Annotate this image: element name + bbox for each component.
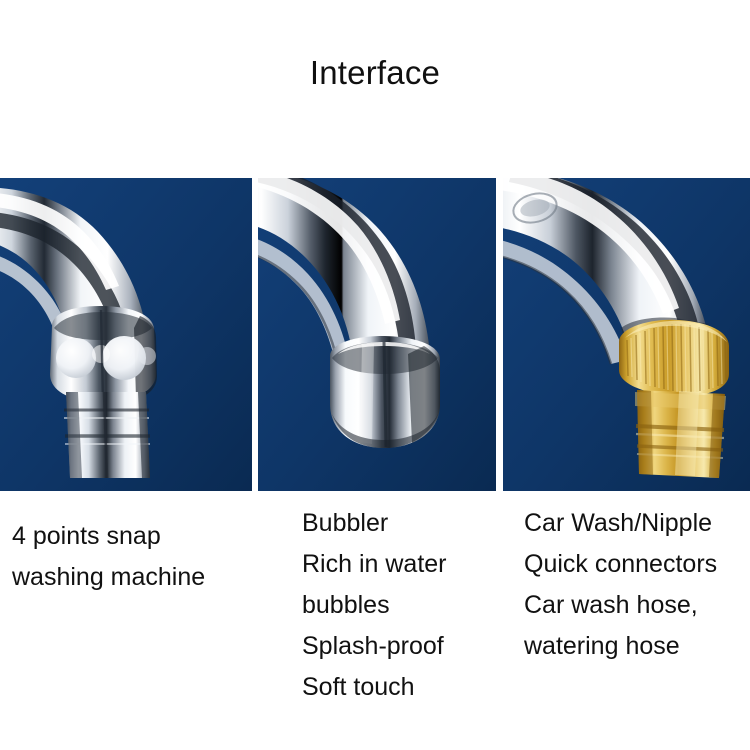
faucet-bubbler-aerator-icon (258, 178, 496, 491)
product-panel-carwash (503, 178, 750, 491)
caption-strip: 4 points snap washing machine Bubbler Ri… (0, 491, 750, 750)
faucet-4-point-snap-connector-icon (0, 178, 252, 491)
title-bar: Interface (0, 0, 750, 178)
caption-line: Rich in water (302, 544, 447, 585)
page-title: Interface (310, 53, 440, 93)
product-panel-bubbler (258, 178, 496, 491)
product-panel-snap (0, 178, 252, 491)
caption-line: Soft touch (302, 667, 447, 708)
caption-bubbler: Bubbler Rich in water bubbles Splash-pro… (302, 491, 447, 708)
caption-line: watering hose (524, 626, 717, 667)
caption-line: Car wash hose, (524, 585, 717, 626)
product-infographic: Interface (0, 0, 750, 750)
caption-carwash: Car Wash/Nipple Quick connectors Car was… (524, 491, 717, 667)
caption-line: Quick connectors (524, 544, 717, 585)
caption-line: washing machine (12, 557, 205, 598)
caption-line: 4 points snap (12, 516, 205, 557)
product-image-panels (0, 178, 750, 491)
caption-line: Car Wash/Nipple (524, 503, 717, 544)
faucet-brass-quick-connector-nipple-icon (503, 178, 750, 491)
caption-line: Splash-proof (302, 626, 447, 667)
caption-line: Bubbler (302, 503, 447, 544)
caption-snap: 4 points snap washing machine (12, 491, 205, 598)
caption-line: bubbles (302, 585, 447, 626)
